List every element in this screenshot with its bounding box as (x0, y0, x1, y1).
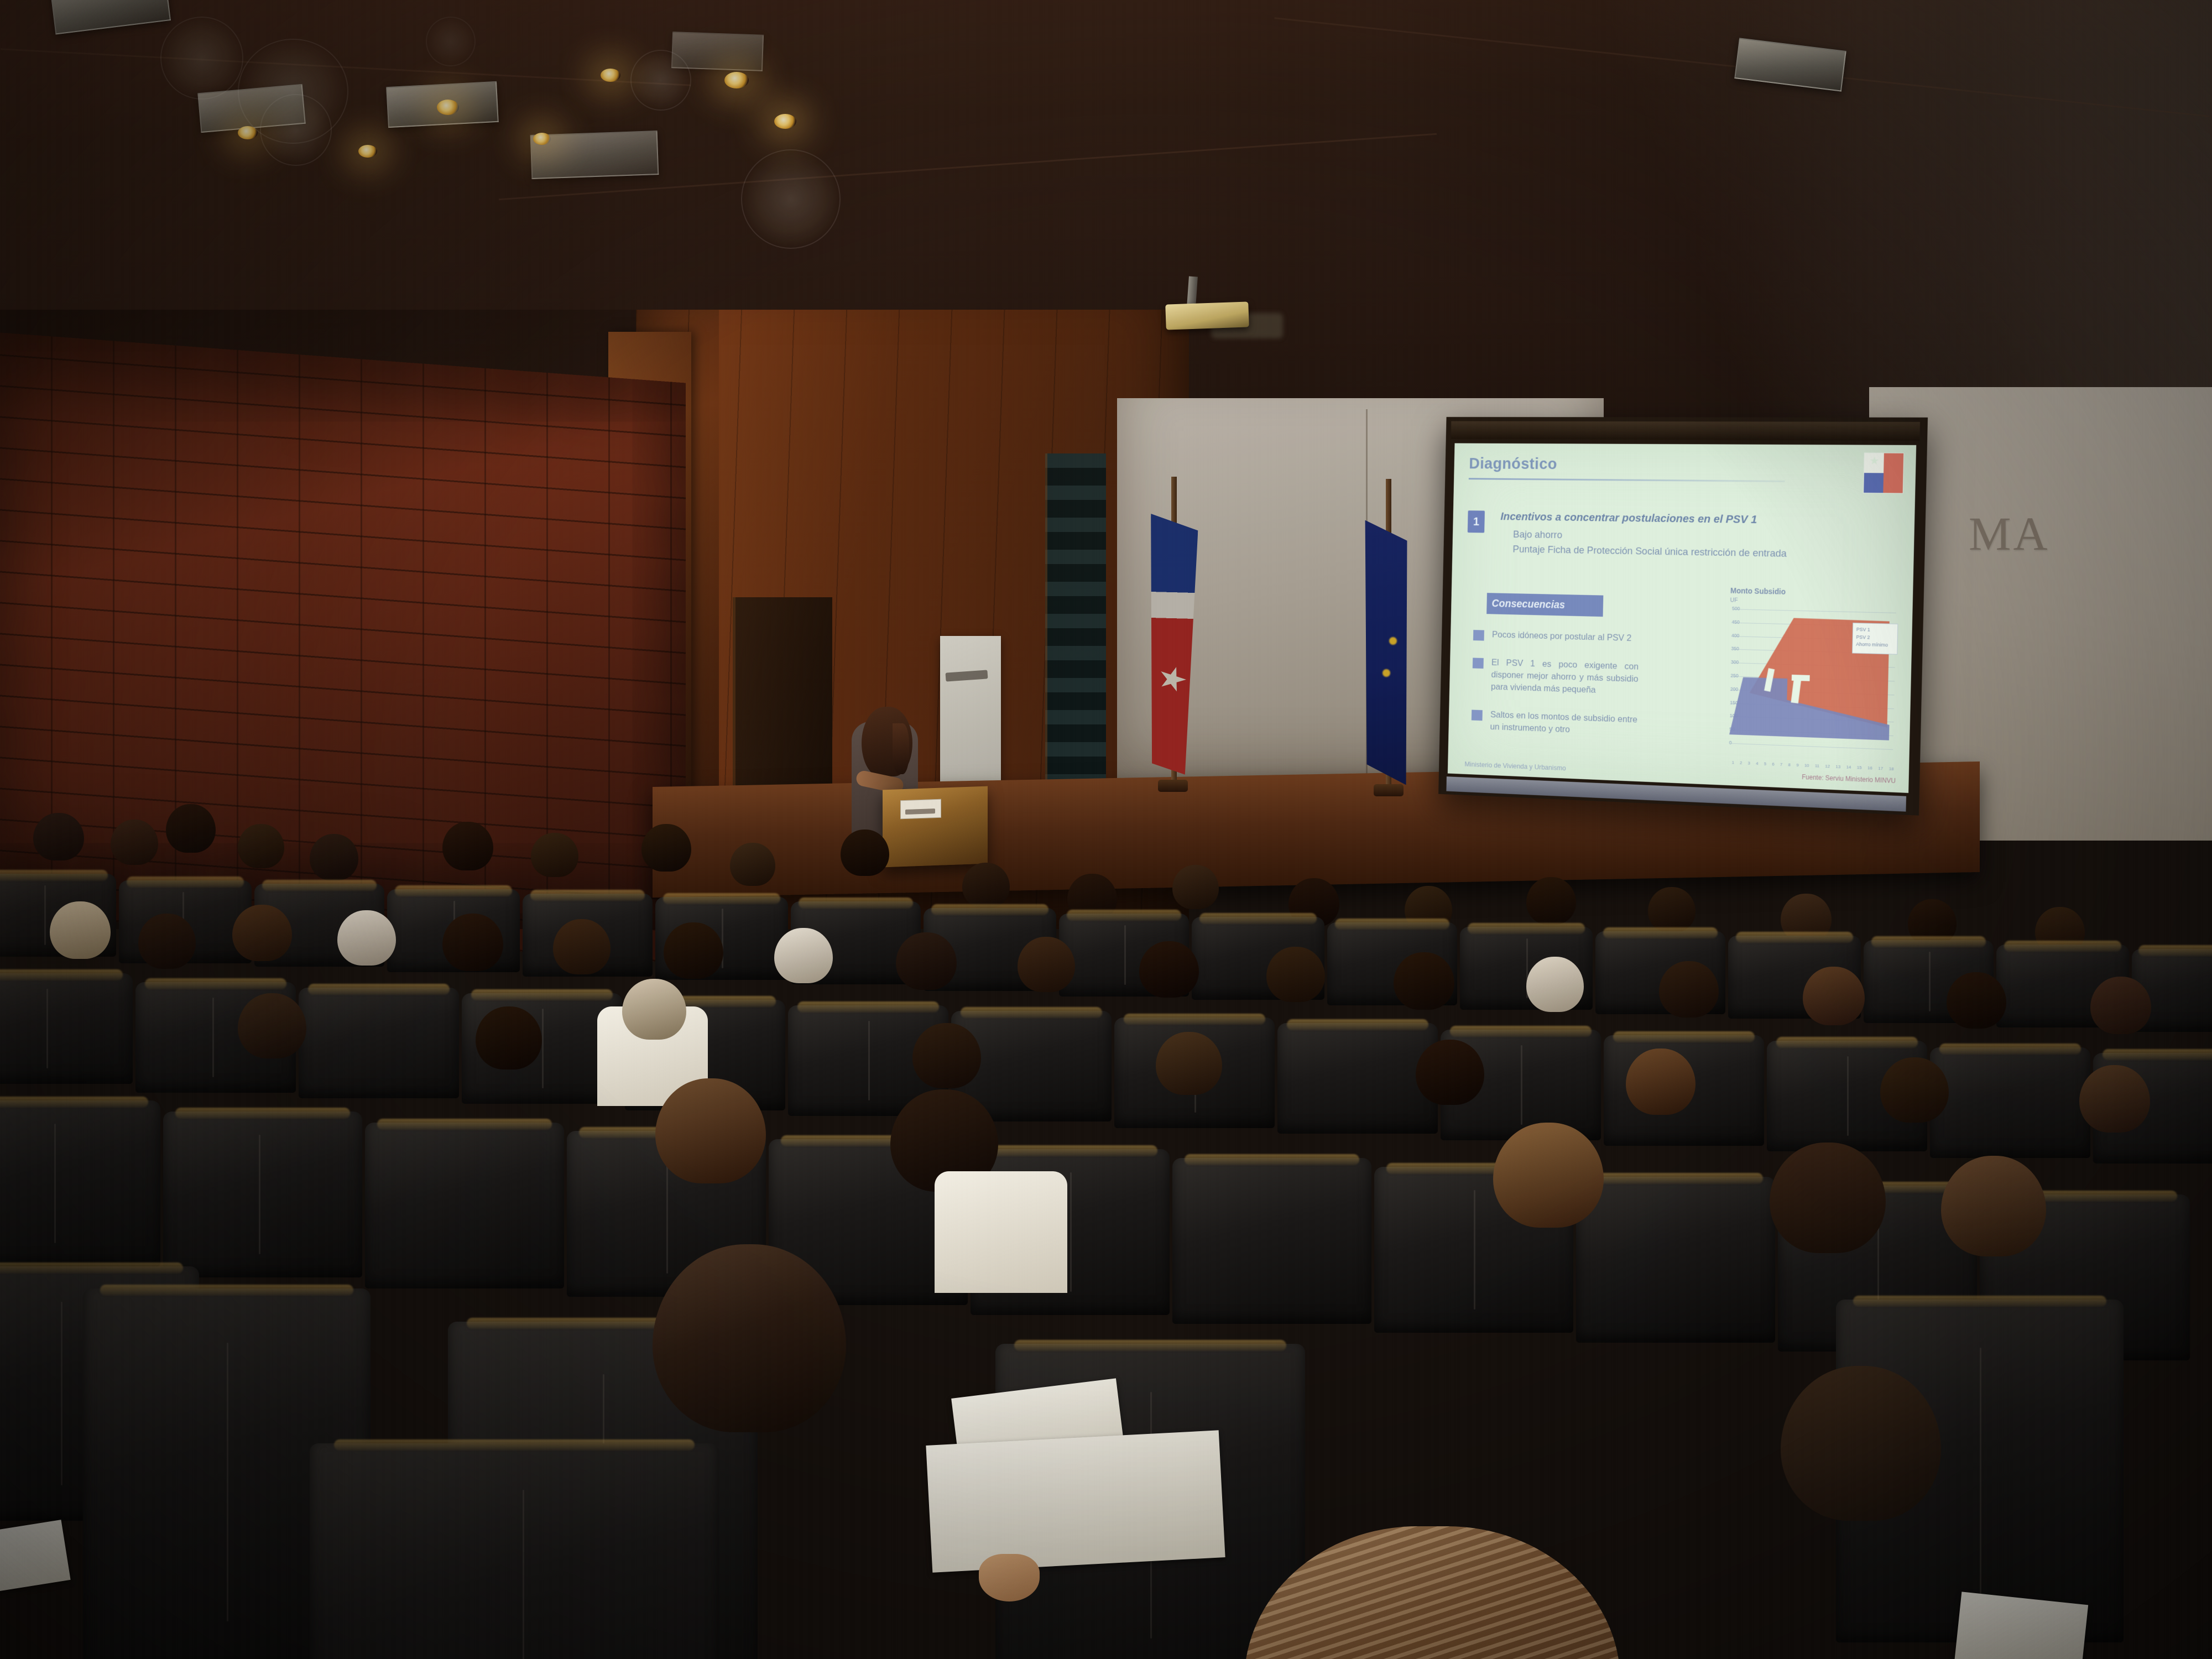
chart-title: Monto Subsidio (1730, 586, 1786, 596)
screen-surface: Diagnóstico 1 Incentivos a concentrar po… (1448, 443, 1916, 792)
audience-head (33, 813, 84, 860)
audience-area (0, 791, 2212, 1659)
chart-xaxis: 1 2 3 4 5 6 7 8 9 10 11 12 13 14 (1732, 760, 1894, 771)
flag-base (1158, 780, 1188, 792)
seat-seam (868, 1021, 870, 1100)
logo-quadrant (1883, 473, 1903, 493)
handout-paper (0, 1520, 71, 1594)
ceiling-vent (671, 32, 764, 71)
chart-xtick: 8 (1788, 762, 1791, 767)
audience-head (138, 914, 196, 969)
wall-louver-panel (1045, 453, 1106, 835)
audience-seat (1172, 1158, 1371, 1324)
audience-head (1172, 865, 1219, 909)
chart-ytick: 450 (1731, 619, 1739, 625)
audience-head (1941, 1156, 2046, 1256)
slide-title-rule (1469, 478, 1785, 482)
bullet-square-icon (1472, 709, 1483, 721)
consequences-highlight: Consecuencias (1486, 593, 1603, 617)
audience-head (310, 834, 358, 880)
audience-head (1781, 1366, 1941, 1521)
audience-seat (310, 1443, 719, 1659)
audience-head (664, 922, 723, 979)
audience-head (442, 822, 493, 870)
audience-head (2090, 977, 2151, 1034)
audience-head (553, 919, 611, 974)
seat-seam (44, 885, 46, 945)
chart-xtick: 6 (1772, 761, 1774, 766)
seat-seam (46, 989, 48, 1068)
audience-head (50, 901, 111, 959)
audience-head (531, 833, 578, 877)
audience-head (111, 820, 158, 865)
chart-ytick: 300 (1731, 659, 1739, 665)
ceiling-downlight (724, 72, 749, 88)
chart-ytick: 500 (1732, 606, 1740, 611)
audience-seat (163, 1112, 362, 1277)
chart-xtick: 13 (1836, 764, 1841, 769)
seat-seam (1474, 1190, 1475, 1310)
audience-head (1648, 887, 1695, 932)
bullet-text: El PSV 1 es poco exigente con disponer m… (1491, 657, 1639, 698)
chart-ylabel: UF (1730, 597, 1738, 604)
audience-head (962, 863, 1010, 908)
chart-ytick: 200 (1730, 686, 1738, 692)
audience-head (1493, 1123, 1604, 1228)
bullet-square-icon (1473, 630, 1484, 641)
presenter-hair (862, 707, 912, 776)
legend-entry: Ahorro mínimo (1856, 641, 1894, 649)
projection-screen: Diagnóstico 1 Incentivos a concentrar po… (1438, 417, 1928, 816)
chart-xtick: 5 (1764, 761, 1766, 766)
seat-seam (227, 1343, 228, 1621)
seat-seam (1124, 925, 1126, 985)
eu-flag-star (1389, 637, 1397, 645)
chart-step-notch (1792, 675, 1810, 681)
chart-xtick: 1 (1732, 760, 1734, 765)
chart-xtick: 12 (1825, 764, 1830, 769)
chart-xtick: 18 (1889, 766, 1894, 771)
audience-hand (979, 1554, 1040, 1601)
seat-seam (542, 1009, 544, 1088)
chart-xtick: 14 (1846, 765, 1851, 770)
audience-seat (299, 988, 459, 1098)
logo-quadrant (1864, 473, 1884, 493)
seat-seam (61, 1302, 62, 1485)
audience-head (730, 843, 775, 886)
gobierno-de-chile-logo (1863, 452, 1904, 493)
audience-head (912, 1023, 981, 1088)
logo-quadrant (1864, 453, 1884, 473)
chart-xtick: 17 (1878, 766, 1883, 771)
seat-seam (666, 1154, 668, 1274)
eu-flag-star (1383, 669, 1390, 677)
audience-seat (365, 1123, 564, 1288)
audience-head (1139, 941, 1199, 998)
audience-head (1526, 877, 1576, 925)
bullet-square-icon (1473, 658, 1484, 669)
consequences-label: Consecuencias (1491, 597, 1565, 611)
seat-seam (1980, 1348, 1981, 1594)
chart-ytick: 350 (1731, 646, 1739, 651)
slide-headline: Incentivos a concentrar postulaciones en… (1500, 510, 1902, 529)
presentation-slide: Diagnóstico 1 Incentivos a concentrar po… (1448, 443, 1916, 792)
audience-head (1880, 1057, 1949, 1123)
chart-ytick: 250 (1730, 673, 1738, 679)
audience-seat (0, 1100, 160, 1266)
ceiling-downlight (437, 100, 459, 115)
chart-xtick: 2 (1740, 760, 1742, 765)
audience-head (1947, 972, 2006, 1029)
seat-seam (54, 1124, 56, 1243)
seat-seam (1929, 952, 1931, 1011)
screen-roller-bar (1451, 421, 1920, 441)
audience-head (1266, 947, 1325, 1002)
audience-head (442, 914, 503, 971)
audience-head (841, 830, 889, 876)
audience-head (232, 905, 292, 961)
audience-seat (1930, 1047, 2090, 1158)
ceiling-downlight (358, 145, 377, 158)
audience-head (238, 993, 306, 1058)
audience-head (1526, 957, 1584, 1012)
chart-ytick: 400 (1731, 633, 1739, 638)
logo-star-icon (1870, 456, 1879, 465)
seat-seam (212, 998, 214, 1077)
chart-ytick: 0 (1729, 740, 1732, 745)
wall-signage-letters: MA (1969, 506, 2050, 561)
seat-seam (1070, 1172, 1072, 1292)
logo-quadrant (1884, 453, 1903, 473)
list-item: El PSV 1 es poco exigente con disponer m… (1472, 656, 1639, 698)
audience-head (166, 804, 216, 853)
audience-head (641, 824, 691, 872)
slide-chart: Monto Subsidio UF 500 450 400 350 300 25… (1723, 607, 1903, 776)
audience-head (1626, 1048, 1695, 1115)
audience-head (2079, 1065, 2150, 1133)
audience-person-torso (935, 1171, 1067, 1293)
list-item: Pocos idóneos por postular al PSV 2 (1473, 628, 1639, 645)
ceiling-downlight (533, 133, 551, 145)
ceiling-downlight (238, 126, 258, 139)
audience-head (1770, 1142, 1886, 1253)
european-union-flag (1363, 519, 1411, 785)
seat-seam (259, 1135, 260, 1254)
audience-head (1156, 1032, 1222, 1095)
audience-head (653, 1244, 846, 1432)
audience-head (774, 928, 833, 983)
seat-seam (1521, 1045, 1522, 1125)
chart-xtick: 9 (1796, 763, 1798, 768)
audience-head (1018, 937, 1075, 992)
legend-entry: PSV 1 (1856, 626, 1895, 634)
audience-head (337, 910, 396, 966)
list-item: Saltos en los montos de subsidio entre u… (1471, 708, 1637, 738)
slide-bullet-list: Pocos idóneos por postular al PSV 2 El P… (1471, 628, 1640, 754)
audience-head (896, 932, 957, 990)
audience-head (622, 979, 686, 1040)
chart-xtick: 4 (1756, 761, 1758, 766)
ceiling-downlight (601, 69, 620, 82)
slide-title: Diagnóstico (1469, 455, 1902, 476)
chart-xtick: 10 (1804, 763, 1809, 768)
ceiling-downlight (774, 114, 796, 129)
audience-head (1803, 967, 1865, 1025)
handout-paper (926, 1430, 1225, 1572)
seat-seam (523, 1490, 524, 1659)
chart-legend: PSV 1 PSV 2 Ahorro mínimo (1852, 623, 1898, 655)
audience-seat (1576, 1177, 1775, 1343)
audience-head (1394, 952, 1454, 1010)
auditorium-scene: MA Diagnóstico (0, 0, 2212, 1659)
chart-xtick: 16 (1867, 765, 1872, 770)
audience-head (238, 824, 284, 868)
audience-head (476, 1006, 542, 1070)
audience-head (1416, 1040, 1484, 1105)
audience-seat (0, 973, 133, 1084)
chart-xtick: 7 (1780, 762, 1782, 767)
bullet-text: Saltos en los montos de subsidio entre u… (1490, 709, 1637, 739)
chart-xtick: 15 (1857, 765, 1862, 770)
audience-head (655, 1078, 766, 1183)
chart-xtick: 11 (1815, 763, 1819, 768)
ceiling-projector (1165, 301, 1249, 330)
chart-xtick: 3 (1748, 761, 1750, 766)
seat-seam (1847, 1056, 1849, 1136)
audience-seat (1277, 1023, 1438, 1134)
bullet-text: Pocos idóneos por postular al PSV 2 (1492, 629, 1632, 645)
slide-footer-left: Ministerio de Vivienda y Urbanismo (1464, 760, 1566, 772)
board-mark (946, 670, 988, 681)
audience-head (1659, 961, 1719, 1018)
slide-number-badge: 1 (1468, 510, 1485, 533)
